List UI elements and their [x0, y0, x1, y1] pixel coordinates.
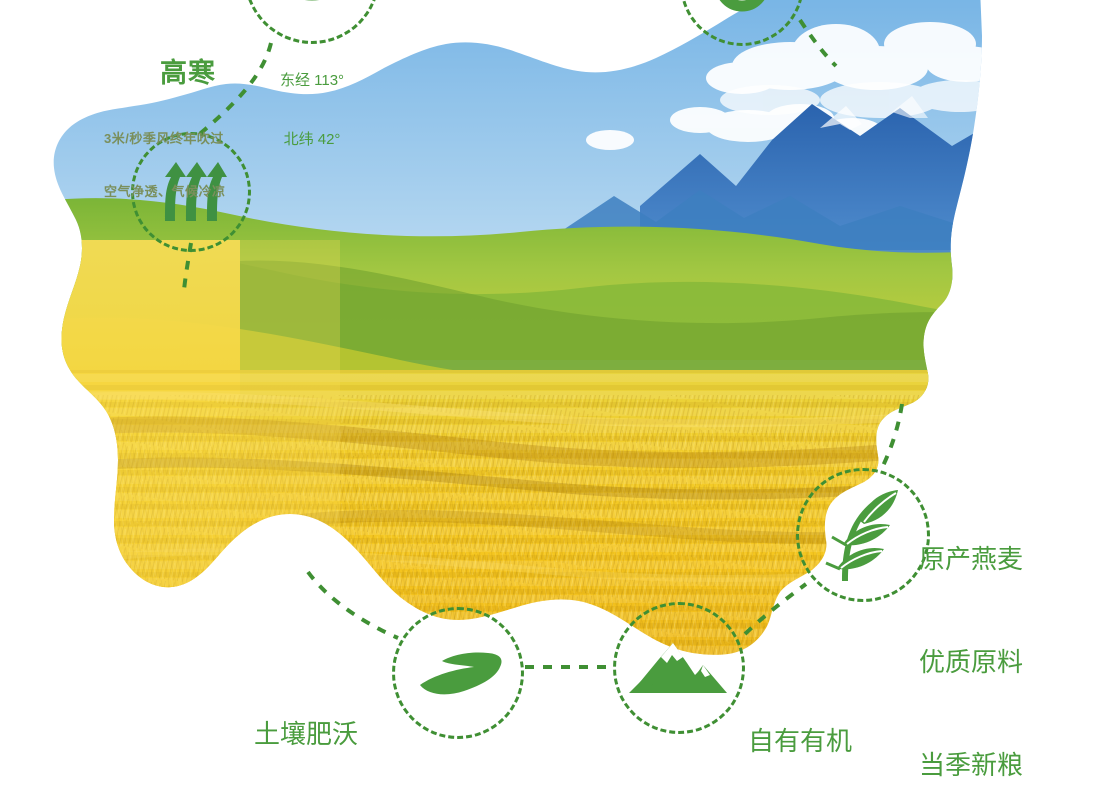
circle-seal-icon — [710, 0, 774, 16]
connector-map-to-soil — [308, 572, 398, 638]
node-organic-seal[interactable] — [680, 0, 804, 46]
cold-climate-subtitle: 3米/秒季风终年吹过 空气净透、气候冷凉 — [104, 95, 226, 235]
oat-plant-icon — [820, 487, 906, 583]
oat-origin-line3: 当季新粮 — [919, 748, 1023, 782]
node-oat-origin[interactable] — [796, 468, 930, 602]
connector-seal-to-map — [800, 20, 836, 66]
node-organic-base[interactable] — [613, 602, 745, 734]
connector-mountain-to-oat — [745, 584, 806, 634]
location-pin-icon — [281, 0, 343, 17]
fertile-soil-line1: 土壤肥沃 — [254, 717, 358, 751]
oat-origin-line1: 原产燕麦 — [919, 542, 1023, 576]
organic-base-label: 自有有机 种植基地 — [748, 655, 852, 796]
coordinate-latitude: 北纬 42° — [252, 130, 372, 150]
fertile-soil-label: 土壤肥沃 自然生长 — [254, 648, 358, 796]
oat-origin-label: 原产燕麦 优质原料 当季新粮 — [919, 473, 1023, 796]
coordinate-longitude: 东经 113° — [252, 71, 372, 91]
cold-climate-subtitle-line2: 空气净透、气候冷凉 — [104, 183, 226, 201]
coordinates-text: 东经 113° 北纬 42° — [252, 32, 372, 188]
oat-origin-line2: 优质原料 — [919, 645, 1023, 679]
river-land-icon — [412, 645, 504, 701]
organic-base-line1: 自有有机 — [748, 724, 852, 758]
cold-climate-title: 高寒 — [160, 58, 216, 90]
infographic-canvas: 东经 113° 北纬 42° 高寒 3米/秒季风终年吹过 空气净透、气候冷凉 — [0, 0, 1100, 796]
connector-map-to-oat — [880, 404, 902, 472]
mountain-icon — [629, 637, 729, 699]
cold-climate-subtitle-line1: 3米/秒季风终年吹过 — [104, 130, 226, 148]
node-fertile-soil[interactable] — [392, 607, 524, 739]
